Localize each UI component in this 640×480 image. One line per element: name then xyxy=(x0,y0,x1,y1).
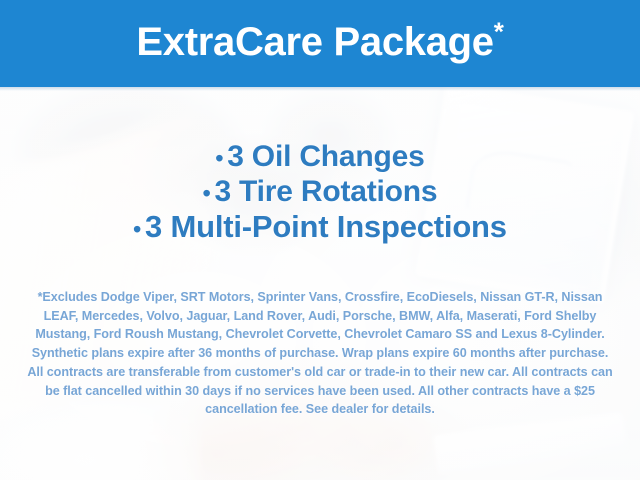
benefits-list: •3 Oil Changes •3 Tire Rotations •3 Mult… xyxy=(0,140,640,246)
disclaimer-text: *Excludes Dodge Viper, SRT Motors, Sprin… xyxy=(24,288,616,419)
title-asterisk: * xyxy=(494,16,504,46)
page-title: ExtraCare Package* xyxy=(136,22,503,66)
header-band: ExtraCare Package* xyxy=(0,0,640,87)
bullet-dot-icon: • xyxy=(133,216,145,242)
benefit-item-oil-changes: •3 Oil Changes xyxy=(0,140,640,175)
extracare-package-ad: ExtraCare Package* •3 Oil Changes •3 Tir… xyxy=(0,0,640,480)
benefit-label: 3 Multi-Point Inspections xyxy=(145,209,507,244)
benefit-label: 3 Oil Changes xyxy=(227,140,424,173)
benefit-item-tire-rotations: •3 Tire Rotations xyxy=(0,175,640,210)
header-seam-divider xyxy=(0,87,640,91)
bullet-dot-icon: • xyxy=(215,145,227,171)
benefit-item-multipoint-inspections: •3 Multi-Point Inspections xyxy=(0,210,640,246)
benefit-label: 3 Tire Rotations xyxy=(214,175,437,208)
bullet-dot-icon: • xyxy=(203,180,215,206)
page-title-text: ExtraCare Package xyxy=(136,20,493,64)
